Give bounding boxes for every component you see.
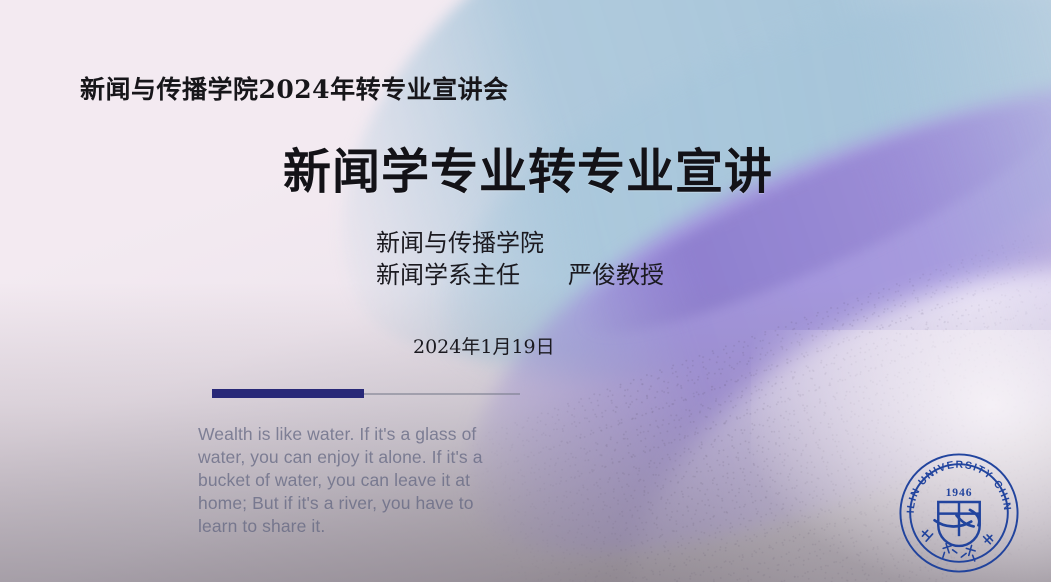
progress-fill [212,389,364,398]
svg-text:1946: 1946 [946,486,973,499]
presentation-slide: 新闻与传播学院2024年转专业宣讲会 新闻学专业转专业宣讲 新闻与传播学院 新闻… [0,0,1051,582]
slide-date: 2024年1月19日 [413,332,555,359]
quote-text: Wealth is like water. If it's a glass of… [198,423,503,538]
presenter-block: 新闻与传播学院 新闻学系主任 严俊教授 [376,228,664,292]
event-subheading: 新闻与传播学院2024年转专业宣讲会 [80,70,509,106]
presenter-organization: 新闻与传播学院 [376,228,664,260]
progress-rule [212,389,520,398]
presenter-role-name: 新闻学系主任 严俊教授 [376,260,664,292]
slide-title: 新闻学专业转专业宣讲 [283,132,773,202]
svg-text:JILIN UNIVERSITY·CHINA: JILIN UNIVERSITY·CHINA [898,452,1012,513]
jilin-university-seal-icon: JILIN UNIVERSITY·CHINA 1946 [898,452,1020,574]
